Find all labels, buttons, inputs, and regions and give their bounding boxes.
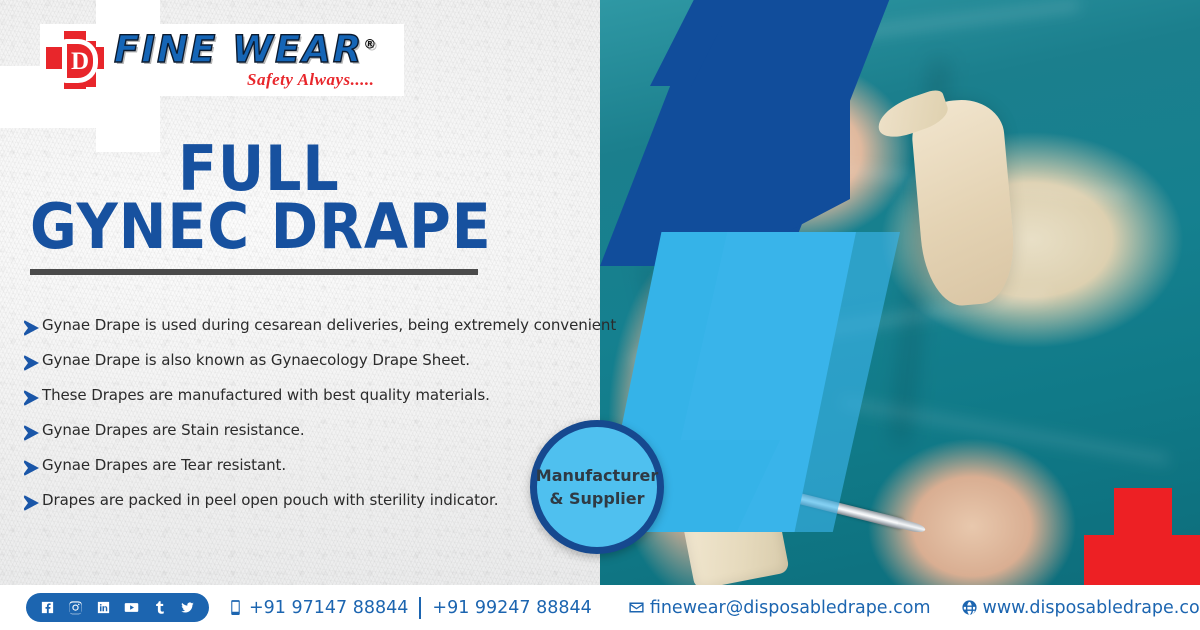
arrow-bullet-icon <box>22 457 42 477</box>
arrow-bullet-icon <box>22 317 42 337</box>
website-label: www.disposabledrape.com <box>983 598 1200 618</box>
logo-tagline: Safety Always..... <box>114 70 378 90</box>
fabric-fold <box>842 398 1168 463</box>
phone-numbers: +91 97147 88844 +91 99247 88844 <box>227 597 592 619</box>
youtube-icon[interactable] <box>123 599 140 616</box>
phone-secondary-label: +91 99247 88844 <box>432 598 591 618</box>
list-item: Gynae Drape is also known as Gynaecology… <box>22 351 642 372</box>
list-item-label: Gynae Drapes are Stain resistance. <box>42 421 305 440</box>
phone-primary-label: +91 97147 88844 <box>249 598 408 618</box>
arrow-bullet-icon <box>22 422 42 442</box>
instagram-icon[interactable] <box>67 599 84 616</box>
website-link[interactable]: www.disposabledrape.com <box>961 598 1200 618</box>
company-logo[interactable]: D FINE WEAR® Safety Always..... <box>40 24 404 96</box>
list-item-label: Gynae Drape is used during cesarean deli… <box>42 316 616 335</box>
drape-cutout-shape <box>909 96 1019 308</box>
logo-company-name: FINE WEAR® <box>114 31 378 68</box>
logo-monogram-letter: D <box>71 49 89 74</box>
tumblr-icon[interactable] <box>151 599 168 616</box>
phone-primary[interactable]: +91 97147 88844 <box>227 598 408 618</box>
badge-line-2: & Supplier <box>549 487 644 510</box>
promotional-banner: D FINE WEAR® Safety Always..... FULL GYN… <box>0 0 1200 630</box>
medical-cross-icon: D <box>46 31 106 89</box>
headline-line-2: GYNEC DRAPE <box>30 198 545 256</box>
social-links[interactable] <box>26 593 209 622</box>
list-item-label: Drapes are packed in peel open pouch wit… <box>42 491 498 510</box>
red-cross-horizontal <box>1084 535 1200 585</box>
headline-underline <box>30 269 478 275</box>
phone-secondary[interactable]: +91 99247 88844 <box>432 598 591 618</box>
list-item-label: Gynae Drape is also known as Gynaecology… <box>42 351 470 370</box>
status-badge: Manufacturer & Supplier <box>530 420 664 554</box>
logo-wordmark: FINE WEAR® Safety Always..... <box>114 31 378 90</box>
globe-icon <box>961 599 978 616</box>
email-link[interactable]: finewear@disposabledrape.com <box>628 598 931 618</box>
arrow-bullet-icon <box>22 492 42 512</box>
logo-monogram: D <box>62 39 98 83</box>
arrow-bullet-icon <box>22 352 42 372</box>
registered-trademark-icon: ® <box>363 37 378 52</box>
phone-icon <box>227 599 244 616</box>
envelope-icon <box>628 599 645 616</box>
list-item: Gynae Drape is used during cesarean deli… <box>22 316 642 337</box>
contact-footer: +91 97147 88844 +91 99247 88844 finewear… <box>0 585 1200 630</box>
linkedin-icon[interactable] <box>95 599 112 616</box>
footer-divider <box>419 597 421 619</box>
badge-line-1: Manufacturer <box>536 464 658 487</box>
twitter-icon[interactable] <box>179 599 196 616</box>
list-item-label: These Drapes are manufactured with best … <box>42 386 490 405</box>
list-item: These Drapes are manufactured with best … <box>22 386 642 407</box>
page-title: FULL GYNEC DRAPE <box>30 140 590 275</box>
list-item-label: Gynae Drapes are Tear resistant. <box>42 456 286 475</box>
email-label: finewear@disposabledrape.com <box>650 598 931 618</box>
facebook-icon[interactable] <box>39 599 56 616</box>
arrow-bullet-icon <box>22 387 42 407</box>
